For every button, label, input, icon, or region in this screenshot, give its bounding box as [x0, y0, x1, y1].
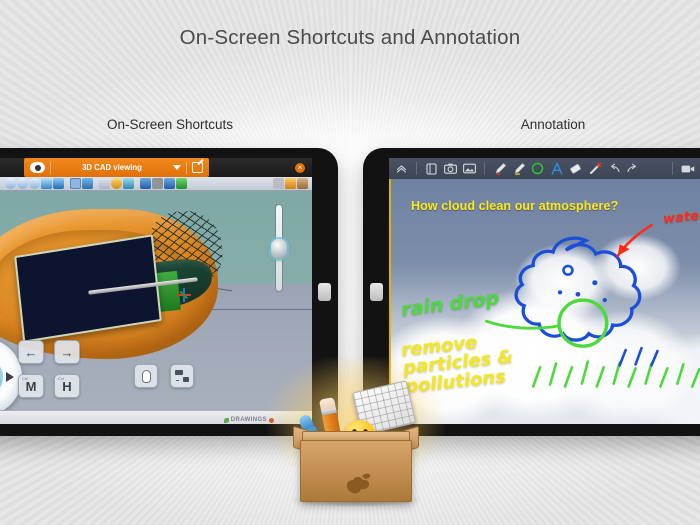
m-shortcut-button[interactable]: Ctrl M	[18, 374, 44, 398]
poster-stage: On-Screen Shortcuts and Annotation On-Sc…	[0, 0, 700, 525]
close-icon[interactable]: ×	[295, 163, 305, 173]
circle-shape-icon[interactable]	[529, 160, 546, 177]
laser-pointer-icon[interactable]	[586, 160, 603, 177]
cad-mode-bar[interactable]: 3D CAD viewing	[24, 158, 209, 177]
toolbar-separator-2	[484, 162, 485, 175]
eye-icon[interactable]	[30, 162, 45, 173]
eraser-icon[interactable]	[567, 160, 584, 177]
cad-title-bar: ? 3D CAD viewing ×	[0, 158, 312, 177]
ink-dot-4	[558, 290, 562, 294]
ink-dot-2	[576, 292, 581, 297]
cad-toolbar-group-shade	[70, 178, 93, 189]
mouse-glyph	[142, 370, 151, 383]
annotation-toolbar-right-group	[668, 160, 700, 177]
ink-rain-strokes	[533, 362, 699, 387]
paint-icon[interactable]	[111, 178, 122, 189]
layers-icon[interactable]	[285, 178, 296, 189]
play-icon[interactable]	[176, 178, 187, 189]
minimize-icon[interactable]	[273, 178, 284, 189]
m-shortcut-tag: Ctrl	[22, 376, 28, 381]
page-title: On-Screen Shortcuts and Annotation	[0, 26, 700, 50]
step-back-button[interactable]: ←	[18, 340, 44, 364]
tablet-right-home-button[interactable]	[370, 283, 383, 301]
ink-green-line	[486, 321, 558, 328]
cad-toolbar-group-edit	[99, 178, 134, 189]
cad-model-3d	[0, 209, 218, 359]
tools-box[interactable]	[300, 384, 412, 502]
ink-blue-rain	[620, 348, 658, 365]
stop-icon[interactable]	[152, 178, 163, 189]
move-icon[interactable]	[53, 178, 64, 189]
cad-toolbar-group-zoom	[5, 178, 64, 189]
redo-icon[interactable]	[624, 160, 641, 177]
camera-icon[interactable]	[442, 160, 459, 177]
photo-icon[interactable]	[461, 160, 478, 177]
page-icon[interactable]	[423, 160, 440, 177]
ink-dot-1	[592, 280, 597, 285]
measure-icon[interactable]	[123, 178, 134, 189]
caption-on-screen-shortcuts: On-Screen Shortcuts	[90, 117, 250, 132]
cad-toolbar	[0, 177, 312, 191]
render-icon[interactable]	[82, 178, 93, 189]
zoom-window-icon[interactable]	[29, 178, 40, 189]
shade-icon[interactable]	[70, 178, 81, 189]
box-front-panel	[300, 440, 412, 502]
last-frame-icon[interactable]	[164, 178, 175, 189]
layout-glyph	[175, 370, 189, 382]
toolbar-separator	[416, 162, 417, 175]
cad-mode-label: 3D CAD viewing	[56, 163, 168, 172]
ink-dot-3	[603, 298, 607, 302]
h-shortcut-button[interactable]: Ctrl H	[54, 374, 80, 398]
ink-arrow-head	[618, 244, 630, 256]
first-frame-icon[interactable]	[140, 178, 151, 189]
mode-divider-2	[186, 162, 187, 174]
ink-circle-1	[564, 266, 573, 275]
cad-toolbar-group-playback	[140, 178, 187, 189]
mode-divider	[50, 162, 51, 174]
watermark-leaf-icon	[224, 418, 229, 423]
zoom-fit-icon[interactable]	[41, 178, 52, 189]
watermark-label: DRAWINGS	[231, 417, 267, 423]
cad-toolbar-right-group	[273, 178, 310, 189]
caption-annotation: Annotation	[470, 117, 636, 132]
step-forward-button[interactable]: →	[54, 340, 80, 364]
mouse-icon[interactable]	[134, 364, 158, 388]
zoom-out-icon[interactable]	[17, 178, 28, 189]
axis-gizmo-icon	[176, 287, 192, 303]
toolbar-separator-3	[672, 162, 673, 175]
splat-logo	[340, 472, 372, 498]
select-icon[interactable]	[99, 178, 110, 189]
yellow-highlighter-icon[interactable]	[510, 160, 527, 177]
zoom-slider[interactable]	[273, 205, 284, 291]
video-icon[interactable]	[679, 160, 696, 177]
chevron-down-icon[interactable]	[173, 165, 181, 170]
edit-pencil-icon[interactable]	[192, 162, 203, 173]
layout-icon[interactable]	[170, 364, 194, 388]
zoom-in-icon[interactable]	[5, 178, 16, 189]
zoom-slider-knob[interactable]	[271, 239, 287, 259]
undo-icon[interactable]	[605, 160, 622, 177]
h-shortcut-tag: Ctrl	[58, 376, 64, 381]
tools-icon[interactable]	[297, 178, 308, 189]
tablet-left-home-button[interactable]	[318, 283, 331, 301]
red-pen-icon[interactable]	[491, 160, 508, 177]
text-tool-icon[interactable]	[548, 160, 565, 177]
chevron-up-icon[interactable]	[393, 160, 410, 177]
annotation-toolbar	[389, 158, 700, 179]
